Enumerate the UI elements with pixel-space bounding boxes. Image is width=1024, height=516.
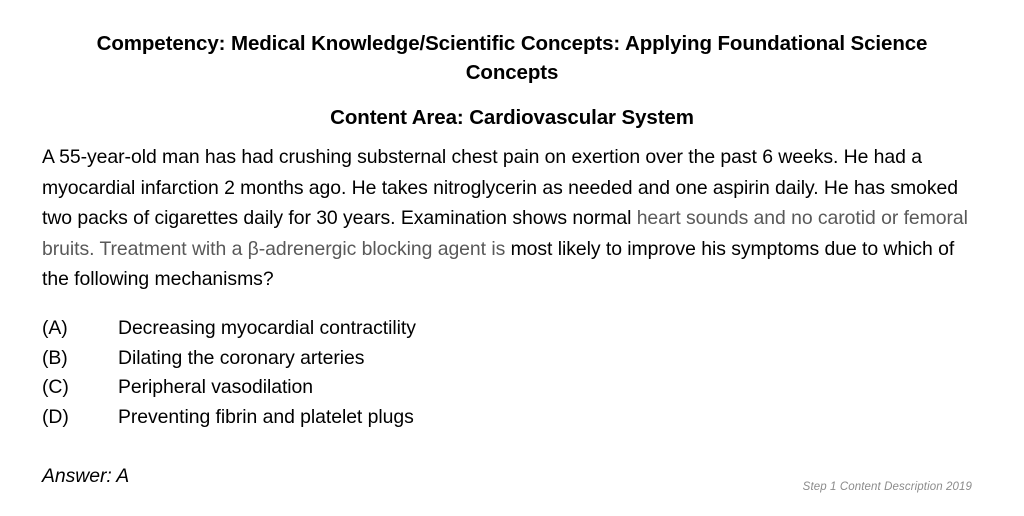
option-label-d: (D)	[42, 403, 118, 433]
competency-heading-block: Competency: Medical Knowledge/Scientific…	[60, 29, 964, 87]
answer-options-list: (A) Decreasing myocardial contractility …	[42, 314, 642, 432]
option-row-d[interactable]: (D) Preventing fibrin and platelet plugs	[42, 403, 642, 433]
option-label-a: (A)	[42, 314, 118, 344]
option-text-b: Dilating the coronary arteries	[118, 344, 642, 374]
option-text-d: Preventing fibrin and platelet plugs	[118, 403, 642, 433]
option-row-c[interactable]: (C) Peripheral vasodilation	[42, 373, 642, 403]
option-text-a: Decreasing myocardial contractility	[118, 314, 642, 344]
option-row-a[interactable]: (A) Decreasing myocardial contractility	[42, 314, 642, 344]
content-area-heading: Content Area: Cardiovascular System	[60, 104, 964, 131]
option-label-c: (C)	[42, 373, 118, 403]
option-row-b[interactable]: (B) Dilating the coronary arteries	[42, 344, 642, 374]
question-stem: A 55-year-old man has had crushing subst…	[42, 142, 982, 295]
question-page: Competency: Medical Knowledge/Scientific…	[0, 0, 1024, 516]
answer-key: Answer: A	[42, 465, 129, 488]
option-label-b: (B)	[42, 344, 118, 374]
source-attribution: Step 1 Content Description 2019	[803, 481, 972, 493]
competency-heading: Competency: Medical Knowledge/Scientific…	[60, 29, 964, 87]
option-text-c: Peripheral vasodilation	[118, 373, 642, 403]
